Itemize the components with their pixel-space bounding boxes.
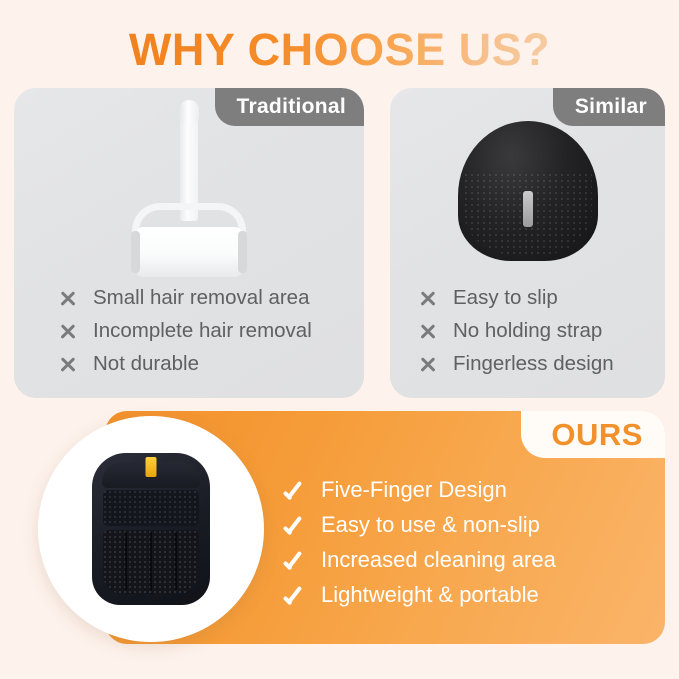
list-item: Easy to slip (418, 286, 614, 310)
pros-text: Five-Finger Design (321, 477, 507, 503)
five-finger-mesh-glove-icon (92, 453, 210, 605)
list-item: No holding strap (418, 319, 614, 343)
ours-product-circle (38, 416, 264, 642)
product-image-traditional (14, 98, 364, 283)
roller-cap-right (238, 231, 247, 273)
roller-barrel (136, 227, 242, 277)
cons-list-similar: Easy to slip No holding strap Fingerless… (418, 286, 614, 376)
lint-roller-icon (124, 103, 254, 278)
roller-cap-left (131, 231, 140, 273)
check-icon (282, 549, 304, 571)
black-mesh-dome-pad-icon (458, 121, 598, 261)
pros-text: Lightweight & portable (321, 582, 539, 608)
pros-text: Increased cleaning area (321, 547, 556, 573)
x-mark-icon (418, 355, 437, 374)
cons-text: Fingerless design (453, 352, 614, 376)
list-item: Small hair removal area (58, 286, 312, 310)
check-icon (282, 479, 304, 501)
list-item: Not durable (58, 352, 312, 376)
cons-text: Easy to slip (453, 286, 558, 310)
pros-text: Easy to use & non-slip (321, 512, 540, 538)
cons-text: Incomplete hair removal (93, 319, 312, 343)
comparison-card-traditional: Traditional Small hair removal area Inco… (14, 88, 364, 398)
list-item: Increased cleaning area (282, 547, 556, 573)
check-icon (282, 514, 304, 536)
list-item: Lightweight & portable (282, 582, 556, 608)
x-mark-icon (58, 322, 77, 341)
glove-finger-mesh (103, 530, 199, 594)
x-mark-icon (418, 289, 437, 308)
ours-tab-label: OURS (551, 417, 643, 453)
glove-yellow-tag (146, 457, 157, 477)
finger-divider (150, 532, 152, 590)
ours-tab: OURS (521, 411, 665, 458)
glove-top-pocket (103, 490, 199, 526)
page-title-container: WHY CHOOSE US? (0, 24, 679, 76)
cons-list-traditional: Small hair removal area Incomplete hair … (58, 286, 312, 376)
cons-text: No holding strap (453, 319, 602, 343)
comparison-card-similar: Similar Easy to slip No holding strap Fi… (390, 88, 665, 398)
dome-pull-tag (523, 191, 533, 227)
x-mark-icon (58, 355, 77, 374)
list-item: Easy to use & non-slip (282, 512, 556, 538)
cons-text: Small hair removal area (93, 286, 309, 310)
list-item: Five-Finger Design (282, 477, 556, 503)
pros-list: Five-Finger Design Easy to use & non-sli… (282, 477, 556, 608)
list-item: Incomplete hair removal (58, 319, 312, 343)
finger-divider (125, 532, 127, 590)
x-mark-icon (418, 322, 437, 341)
cons-text: Not durable (93, 352, 199, 376)
list-item: Fingerless design (418, 352, 614, 376)
page-title: WHY CHOOSE US? (129, 24, 550, 76)
check-icon (282, 584, 304, 606)
finger-divider (175, 532, 177, 590)
x-mark-icon (58, 289, 77, 308)
product-image-similar (390, 98, 665, 283)
